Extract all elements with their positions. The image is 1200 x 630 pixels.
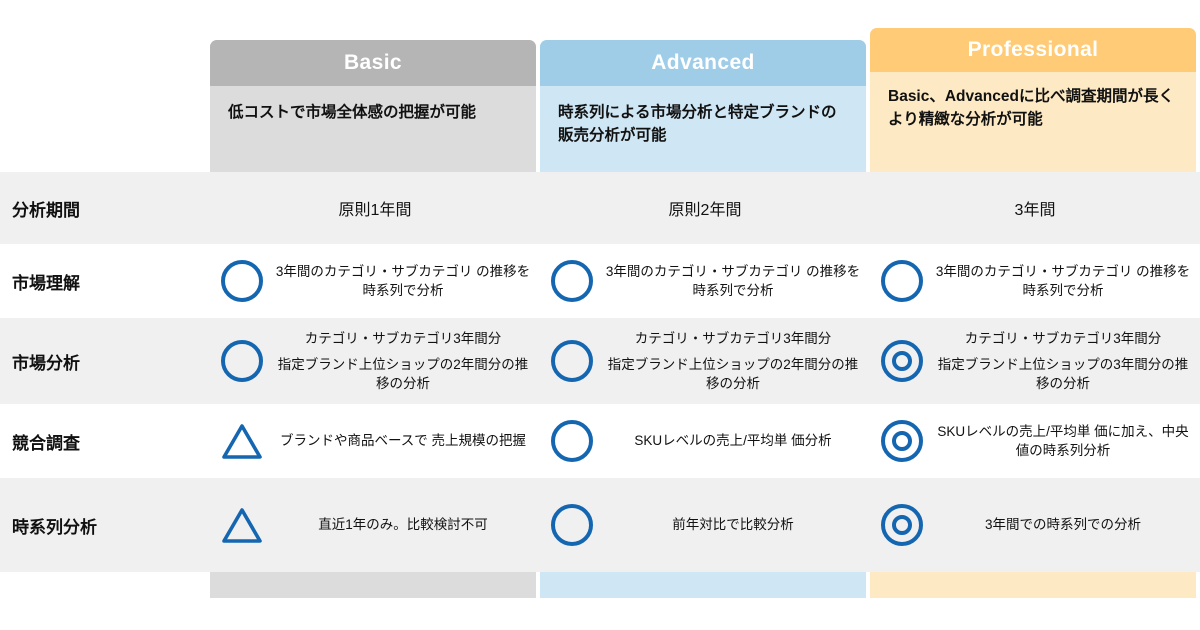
cell-competitor-research-professional: SKUレベルの売上/平均単 価に加え、中央値の時系列分析	[870, 420, 1200, 462]
cell-line-2: 指定ブランド上位ショップの3年間分の推移の分析	[934, 355, 1192, 393]
cell-market-understanding-professional: 3年間のカテゴリ・サブカテゴリ の推移を時系列で分析	[870, 260, 1200, 302]
cell-text: カテゴリ・サブカテゴリ3年間分 指定ブランド上位ショップの2年間分の推移の分析	[274, 329, 540, 393]
circle-icon	[210, 340, 274, 382]
cell-line-1: カテゴリ・サブカテゴリ3年間分	[965, 331, 1162, 346]
cell-line-1: SKUレベルの売上/平均単	[937, 424, 1090, 439]
cell-market-understanding-advanced: 3年間のカテゴリ・サブカテゴリ の推移を時系列で分析	[540, 260, 870, 302]
plan-title-advanced: Advanced	[540, 40, 866, 86]
circle-icon	[540, 420, 604, 462]
cell-line-1b: 売上規模の把握	[432, 433, 527, 448]
cell-text: カテゴリ・サブカテゴリ3年間分 指定ブランド上位ショップの3年間分の推移の分析	[934, 329, 1200, 393]
circle-icon	[540, 504, 604, 546]
cell-period-professional: 3年間	[870, 196, 1200, 220]
double-circle-icon	[870, 420, 934, 462]
cell-line-2: 指定ブランド上位ショップの2年間分の推移の分析	[274, 355, 532, 393]
row-label-period: 分析期間	[0, 196, 210, 221]
cell-line-2: 指定ブランド上位ショップの2年間分の推移の分析	[604, 355, 862, 393]
table-row-competitor-research: 競合調査 ブランドや商品ベースで 売上規模の把握 SKUレベルの売上/平均単 価…	[0, 404, 1200, 478]
cell-text: 前年対比で比較分析	[604, 515, 870, 534]
plan-title-professional: Professional	[870, 28, 1196, 72]
circle-icon	[210, 260, 274, 302]
cell-timeseries-analysis-basic: 直近1年のみ。比較検討不可	[210, 505, 540, 545]
row-label-competitor-research: 競合調査	[0, 429, 210, 454]
cell-market-analysis-basic: カテゴリ・サブカテゴリ3年間分 指定ブランド上位ショップの2年間分の推移の分析	[210, 329, 540, 393]
comparison-table: Basic 低コストで市場全体感の把握が可能 Advanced 時系列による市場…	[0, 0, 1200, 630]
cell-line-1: ブランドや商品ベースで	[280, 433, 428, 448]
footer-bar-advanced	[540, 572, 866, 598]
triangle-icon	[210, 505, 274, 545]
cell-competitor-research-advanced: SKUレベルの売上/平均単 価分析	[540, 420, 870, 462]
footer-bar-professional	[870, 572, 1196, 598]
circle-icon	[870, 260, 934, 302]
cell-market-analysis-professional: カテゴリ・サブカテゴリ3年間分 指定ブランド上位ショップの3年間分の推移の分析	[870, 329, 1200, 393]
circle-icon	[540, 340, 604, 382]
cell-line-1: カテゴリ・サブカテゴリ3年間分	[635, 331, 832, 346]
cell-timeseries-analysis-professional: 3年間での時系列での分析	[870, 504, 1200, 546]
row-label-market-understanding: 市場理解	[0, 269, 210, 294]
footer-bar-basic	[210, 572, 536, 598]
cell-line-1b: 価分析	[791, 433, 832, 448]
plan-card-professional[interactable]: Professional Basic、Advancedに比べ調査期間が長くより精…	[870, 28, 1196, 172]
table-row-timeseries-analysis: 時系列分析 直近1年のみ。比較検討不可 前年対比で比較分析 3年間での時系列での…	[0, 478, 1200, 572]
row-label-market-analysis: 市場分析	[0, 349, 210, 374]
cell-market-analysis-advanced: カテゴリ・サブカテゴリ3年間分 指定ブランド上位ショップの2年間分の推移の分析	[540, 329, 870, 393]
plan-description-basic: 低コストで市場全体感の把握が可能	[210, 86, 536, 125]
cell-competitor-research-basic: ブランドや商品ベースで 売上規模の把握	[210, 421, 540, 461]
cell-text: 3年間のカテゴリ・サブカテゴリ の推移を時系列で分析	[604, 262, 870, 300]
cell-text: ブランドや商品ベースで 売上規模の把握	[274, 431, 540, 450]
table-row-market-understanding: 市場理解 3年間のカテゴリ・サブカテゴリ の推移を時系列で分析 3年間のカテゴリ…	[0, 244, 1200, 318]
cell-text: 3年間のカテゴリ・サブカテゴリ の推移を時系列で分析	[274, 262, 540, 300]
double-circle-icon	[870, 504, 934, 546]
cell-line-1: 3年間のカテゴリ・サブカテゴリ	[606, 264, 803, 279]
plan-description-advanced: 時系列による市場分析と特定ブランドの販売分析が可能	[540, 86, 866, 148]
cell-line-1: SKUレベルの売上/平均単	[634, 433, 787, 448]
cell-text: 3年間のカテゴリ・サブカテゴリ の推移を時系列で分析	[934, 262, 1200, 300]
plan-card-advanced[interactable]: Advanced 時系列による市場分析と特定ブランドの販売分析が可能	[540, 40, 866, 172]
plan-card-basic[interactable]: Basic 低コストで市場全体感の把握が可能	[210, 40, 536, 172]
cell-market-understanding-basic: 3年間のカテゴリ・サブカテゴリ の推移を時系列で分析	[210, 260, 540, 302]
table-row-period: 分析期間 原則1年間 原則2年間 3年間	[0, 172, 1200, 244]
cell-text: 直近1年のみ。比較検討不可	[274, 515, 540, 534]
plan-description-professional: Basic、Advancedに比べ調査期間が長くより精緻な分析が可能	[870, 72, 1196, 132]
cell-text: 3年間での時系列での分析	[934, 515, 1200, 534]
cell-timeseries-analysis-advanced: 前年対比で比較分析	[540, 504, 870, 546]
circle-icon	[540, 260, 604, 302]
table-row-market-analysis: 市場分析 カテゴリ・サブカテゴリ3年間分 指定ブランド上位ショップの2年間分の推…	[0, 318, 1200, 404]
cell-line-1: カテゴリ・サブカテゴリ3年間分	[305, 331, 502, 346]
cell-text: SKUレベルの売上/平均単 価に加え、中央値の時系列分析	[934, 422, 1200, 460]
cell-line-1: 3年間のカテゴリ・サブカテゴリ	[936, 264, 1133, 279]
double-circle-icon	[870, 340, 934, 382]
cell-line-1: 3年間のカテゴリ・サブカテゴリ	[276, 264, 473, 279]
cell-period-basic: 原則1年間	[210, 196, 540, 220]
cell-text: SKUレベルの売上/平均単 価分析	[604, 431, 870, 450]
row-label-timeseries-analysis: 時系列分析	[0, 513, 210, 538]
plan-title-basic: Basic	[210, 40, 536, 86]
cell-text: カテゴリ・サブカテゴリ3年間分 指定ブランド上位ショップの2年間分の推移の分析	[604, 329, 870, 393]
triangle-icon	[210, 421, 274, 461]
cell-period-advanced: 原則2年間	[540, 196, 870, 220]
